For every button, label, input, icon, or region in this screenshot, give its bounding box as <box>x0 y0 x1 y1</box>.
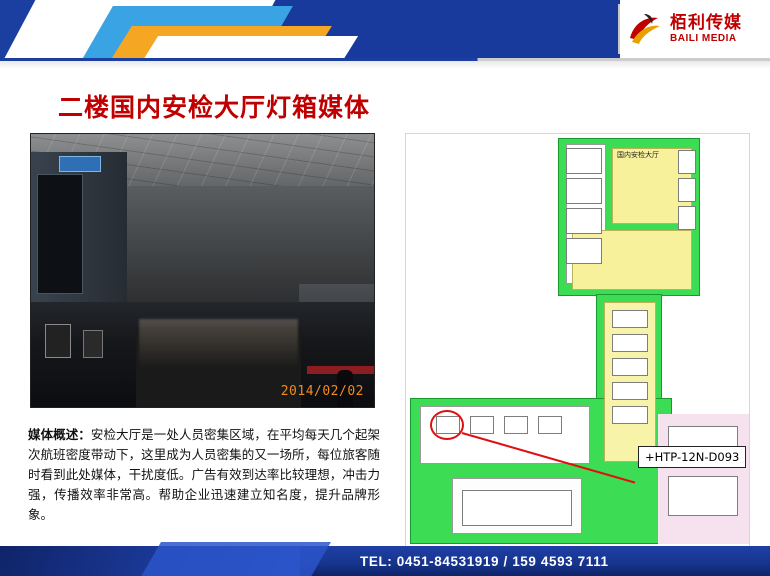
photo-floor-reflection <box>139 319 298 369</box>
photo-date-stamp: 2014/02/02 <box>281 384 364 399</box>
logo-text: 栢利传媒 BAILI MEDIA <box>670 15 742 44</box>
photo-standing-sign-b <box>83 330 103 358</box>
plan-room <box>678 150 696 174</box>
photo-standing-sign-a <box>45 324 71 358</box>
plan-room <box>612 310 648 328</box>
plan-room <box>612 358 648 376</box>
plan-room <box>566 148 602 174</box>
media-description: 媒体概述：安检大厅是一处人员密集区域，在平均每天几个起架次航班密度带动下，这里成… <box>28 425 380 525</box>
photo-door <box>37 174 83 294</box>
logo-text-en: BAILI MEDIA <box>670 34 742 44</box>
photo-blue-sign <box>59 156 101 172</box>
media-photo: 2014/02/02 <box>30 133 375 408</box>
plan-room <box>566 208 602 234</box>
footer-contact: TEL: 0451-84531919 / 159 4593 7111 <box>360 554 609 569</box>
floor-plan: 国内安检大厅 +HTP-12N-D093 <box>405 133 750 548</box>
plan-room <box>678 178 696 202</box>
plan-room <box>612 334 648 352</box>
header-banner: 栢利传媒 BAILI MEDIA <box>0 0 770 58</box>
plan-room <box>612 382 648 400</box>
plan-callout-label: +HTP-12N-D093 <box>638 446 746 468</box>
plan-room <box>470 416 494 434</box>
plan-hall-label: 国内安检大厅 <box>602 150 674 160</box>
slide-page: 栢利传媒 BAILI MEDIA 二楼国内安检大厅灯箱媒体 <box>0 0 770 576</box>
plan-room <box>566 238 602 264</box>
media-description-lead: 媒体概述： <box>28 427 91 442</box>
plan-room <box>612 406 648 424</box>
brand-logo: 栢利传媒 BAILI MEDIA <box>620 0 770 58</box>
footer-bar: TEL: 0451-84531919 / 159 4593 7111 <box>0 546 770 576</box>
logo-text-cn: 栢利传媒 <box>670 15 742 32</box>
plan-room <box>462 490 572 526</box>
header-gradient-band <box>0 61 770 69</box>
logo-mark-icon <box>624 8 666 50</box>
plan-room <box>504 416 528 434</box>
footer-swoosh <box>139 542 331 576</box>
page-title: 二楼国内安检大厅灯箱媒体 <box>58 88 370 124</box>
plan-room <box>668 476 738 516</box>
plan-highlight-circle <box>430 410 464 440</box>
header-swoosh-white2 <box>142 36 358 58</box>
plan-room <box>566 178 602 204</box>
plan-room <box>538 416 562 434</box>
plan-room <box>678 206 696 230</box>
